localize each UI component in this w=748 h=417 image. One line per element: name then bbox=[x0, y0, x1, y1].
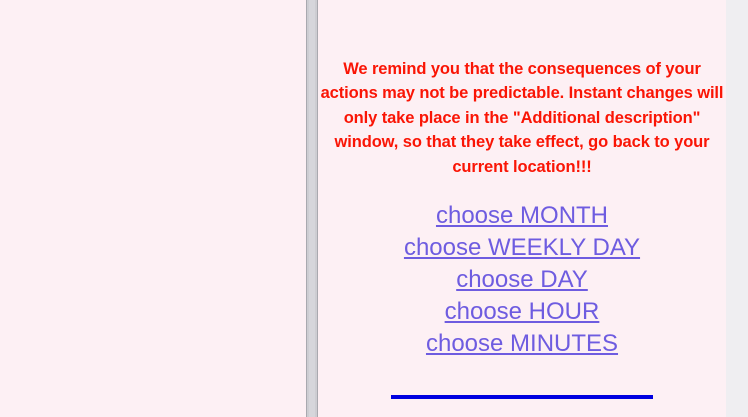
warning-message: We remind you that the consequences of y… bbox=[318, 57, 726, 180]
left-empty-pane bbox=[0, 0, 306, 417]
link-choose-weekly-day-label: choose WEEKLY DAY bbox=[404, 234, 640, 261]
link-choose-hour[interactable]: choose HOUR bbox=[318, 296, 726, 328]
page-root: We remind you that the consequences of y… bbox=[0, 0, 748, 417]
blue-horizontal-rule bbox=[391, 395, 653, 399]
link-choose-weekly-day[interactable]: choose WEEKLY DAY bbox=[318, 232, 726, 264]
link-choose-month-label: choose MONTH bbox=[436, 202, 608, 229]
link-choose-minutes[interactable]: choose MINUTES bbox=[318, 328, 726, 360]
link-choose-minutes-label: choose MINUTES bbox=[426, 330, 618, 357]
choose-links-list: choose MONTH choose WEEKLY DAY choose DA… bbox=[318, 200, 726, 360]
vertical-frame-splitter[interactable] bbox=[306, 0, 318, 417]
right-content-pane: We remind you that the consequences of y… bbox=[318, 0, 726, 417]
link-choose-hour-label: choose HOUR bbox=[445, 298, 600, 325]
splitter-grip[interactable] bbox=[309, 0, 315, 417]
right-gutter bbox=[726, 0, 748, 417]
link-choose-month[interactable]: choose MONTH bbox=[318, 200, 726, 232]
link-choose-day[interactable]: choose DAY bbox=[318, 264, 726, 296]
link-choose-day-label: choose DAY bbox=[456, 266, 588, 293]
blue-rule-container bbox=[318, 386, 726, 404]
